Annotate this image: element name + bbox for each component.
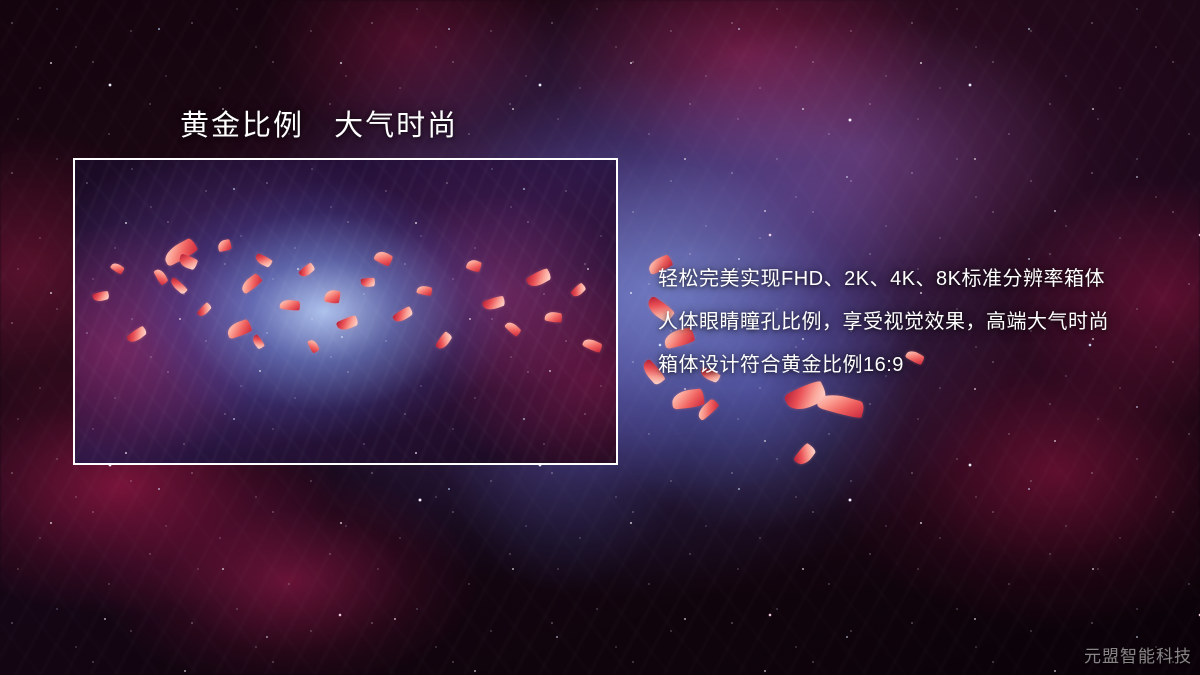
petal bbox=[671, 388, 705, 409]
company-watermark: 元盟智能科技 bbox=[1084, 642, 1192, 667]
framed-product-image bbox=[73, 158, 618, 465]
petal bbox=[793, 442, 817, 468]
body-line-2: 人体眼睛瞳孔比例，享受视觉效果，高端大气时尚 bbox=[658, 301, 1178, 344]
slide-body-copy: 轻松完美实现FHD、2K、4K、8K标准分辨率箱体 人体眼睛瞳孔比例，享受视觉效… bbox=[658, 258, 1178, 387]
slide-headline: 黄金比例 大气时尚 bbox=[180, 102, 458, 144]
presentation-slide: 黄金比例 大气时尚 bbox=[0, 0, 1200, 675]
frame-starfield-medium bbox=[75, 160, 616, 463]
body-line-3: 箱体设计符合黄金比例16:9 bbox=[658, 344, 1178, 387]
body-line-1: 轻松完美实现FHD、2K、4K、8K标准分辨率箱体 bbox=[658, 258, 1178, 301]
